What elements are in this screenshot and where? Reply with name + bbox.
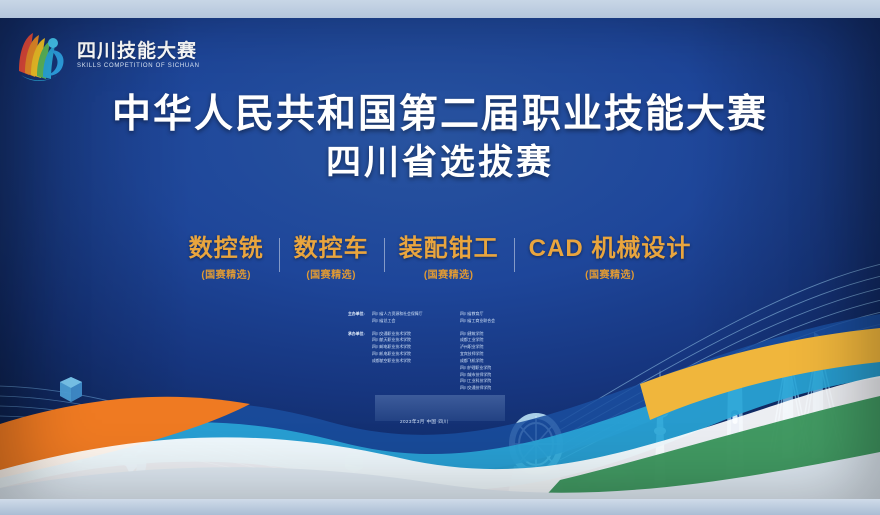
category-subtitle: (国赛精选)	[399, 266, 499, 281]
category-name: CAD 机械设计	[529, 234, 692, 264]
category-subtitle: (国赛精选)	[529, 266, 692, 281]
category-item: 装配钳工 (国赛精选)	[384, 234, 514, 281]
org-line: 四川工业科技学院	[460, 378, 548, 385]
org-line: 成都工业学院	[460, 337, 548, 344]
title-line-2: 四川省选拔赛	[0, 139, 880, 186]
org-line: 四川邮电职业技术学院	[372, 344, 460, 351]
org-line: 四川机电职业技术学院	[372, 351, 460, 358]
org-line: 泸州职业学院	[460, 344, 548, 351]
organizer-credits: 主办单位: 四川省人力资源和社会保障厅 四川省总工会 四川省教育厅 四川省工商业…	[348, 311, 598, 398]
category-name: 数控铣	[189, 234, 264, 264]
banner-title: 中华人民共和国第二届职业技能大赛 四川省选拔赛	[0, 92, 880, 186]
date-location-line: 2023年3月 中国·四川	[400, 419, 448, 425]
banner-photo: 四川技能大赛 SKILLS COMPETITION OF SICHUAN 中华人…	[0, 0, 880, 515]
category-subtitle: (国赛精选)	[189, 266, 264, 281]
host-column-2: 四川省教育厅 四川省工商业联合会	[460, 311, 548, 325]
org-line: 四川建筑学院	[460, 331, 548, 338]
org-line: 四川省人力资源和社会保障厅	[372, 311, 460, 318]
category-name: 装配钳工	[399, 234, 499, 264]
sichuan-skills-swoosh-icon	[14, 27, 70, 83]
org-line: 四川省教育厅	[460, 311, 548, 318]
org-line: 成都飞机学院	[460, 358, 548, 365]
wall-top-edge	[0, 0, 880, 18]
category-list: 数控铣 (国赛精选) 数控车 (国赛精选) 装配钳工 (国赛精选) CAD 机械…	[0, 234, 880, 281]
category-subtitle: (国赛精选)	[294, 266, 369, 281]
org-line: 四川护理职业学院	[460, 365, 548, 372]
co-host-column-1: 四川交通职业技术学院 四川航天职业技术学院 四川邮电职业技术学院 四川机电职业技…	[372, 331, 460, 392]
category-item: 数控铣 (国赛精选)	[174, 234, 279, 281]
org-line: 四川航天职业技术学院	[372, 337, 460, 344]
host-label: 主办单位:	[348, 311, 372, 325]
competition-backdrop-board: 四川技能大赛 SKILLS COMPETITION OF SICHUAN 中华人…	[0, 14, 880, 502]
org-line: 四川交通职业技术学院	[372, 331, 460, 338]
co-host-block: 承办单位: 四川交通职业技术学院 四川航天职业技术学院 四川邮电职业技术学院 四…	[348, 331, 598, 392]
event-logo: 四川技能大赛 SKILLS COMPETITION OF SICHUAN	[14, 22, 204, 88]
org-line: 成都航空职业技术学院	[372, 358, 460, 365]
logo-english-name: SKILLS COMPETITION OF SICHUAN	[77, 63, 200, 69]
title-line-1: 中华人民共和国第二届职业技能大赛	[0, 92, 880, 139]
co-host-label: 承办单位:	[348, 331, 372, 392]
org-line: 四川交通技师学院	[460, 385, 548, 392]
org-line: 四川城市技师学院	[460, 372, 548, 379]
category-item: 数控车 (国赛精选)	[279, 234, 384, 281]
org-line: 四川省总工会	[372, 318, 460, 325]
logo-chinese-name: 四川技能大赛	[77, 42, 200, 61]
category-name: 数控车	[294, 234, 369, 264]
host-column-1: 四川省人力资源和社会保障厅 四川省总工会	[372, 311, 460, 325]
wall-bottom-edge	[0, 499, 880, 515]
host-block: 主办单位: 四川省人力资源和社会保障厅 四川省总工会 四川省教育厅 四川省工商业…	[348, 311, 598, 325]
org-line: 四川省工商业联合会	[460, 318, 548, 325]
org-line: 宜宾技师学院	[460, 351, 548, 358]
co-host-column-2: 四川建筑学院 成都工业学院 泸州职业学院 宜宾技师学院 成都飞机学院 四川护理职…	[460, 331, 548, 392]
category-item: CAD 机械设计 (国赛精选)	[514, 234, 707, 281]
